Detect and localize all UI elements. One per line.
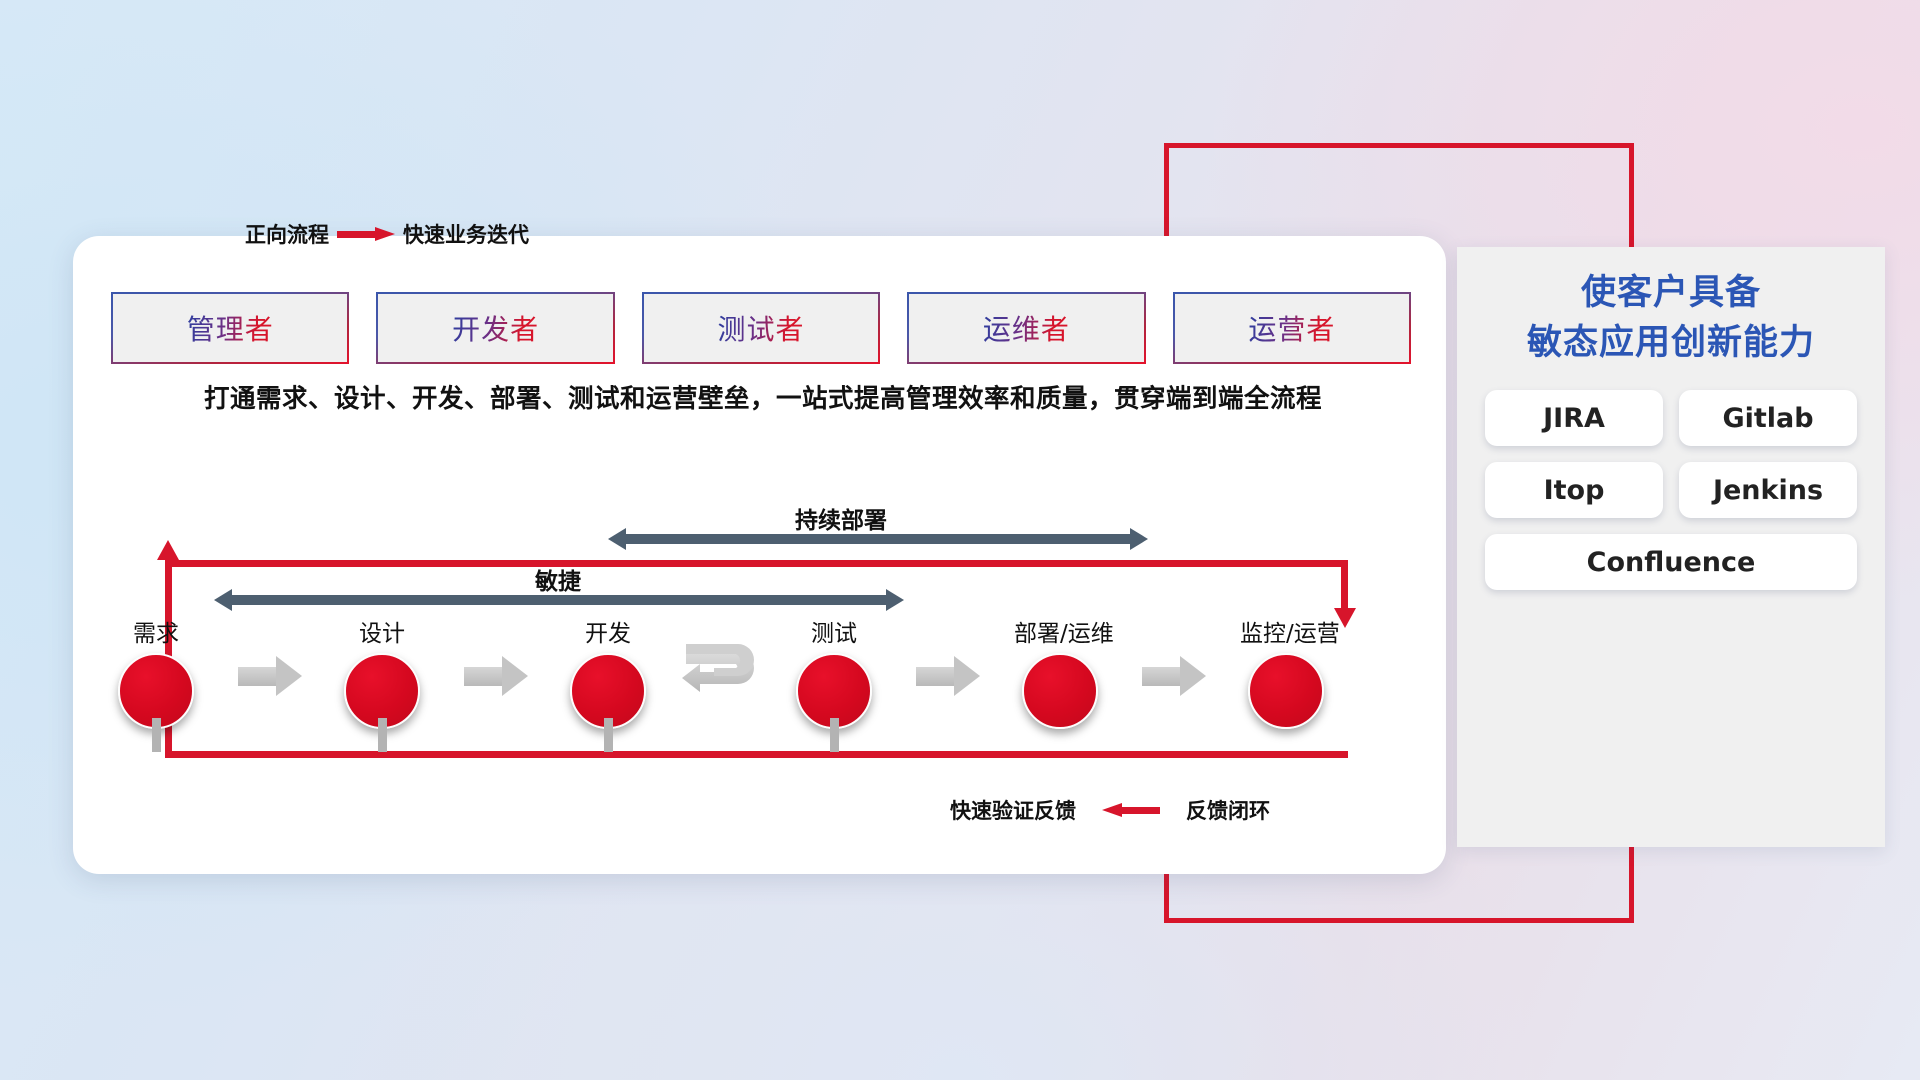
tool-item-jira[interactable]: JIRA — [1485, 390, 1663, 446]
pipeline-node-develop[interactable]: 开发 — [562, 614, 654, 729]
node-stem — [378, 718, 387, 752]
role-label: 管理者 — [187, 308, 274, 348]
devops-pipeline: 需求 设计 开发 — [110, 614, 1420, 734]
role-label: 运营者 — [1248, 308, 1335, 348]
pipeline-node-dot — [1022, 653, 1098, 729]
pipeline-node-label: 开发 — [562, 614, 654, 648]
fast-validation-label: 快速验证反馈 — [950, 795, 1076, 825]
node-stem — [830, 718, 839, 752]
tool-item-confluence[interactable]: Confluence — [1485, 534, 1857, 590]
tool-item-itop[interactable]: Itop — [1485, 462, 1663, 518]
arrow-left-red-icon — [1102, 803, 1160, 817]
tools-panel: 使客户具备 敏态应用创新能力 JIRA Gitlab Itop Jenkins … — [1457, 247, 1885, 847]
node-stem — [604, 718, 613, 752]
role-label: 测试者 — [718, 308, 805, 348]
pipeline-node-label: 设计 — [336, 614, 428, 648]
role-box-developer[interactable]: 开发者 — [376, 292, 614, 364]
slide-canvas: 管理者 开发者 测试者 运维者 运营者 打通需求、设计、开发、部署、测试和运营壁… — [0, 0, 1920, 1080]
tool-item-jenkins[interactable]: Jenkins — [1679, 462, 1857, 518]
main-card: 管理者 开发者 测试者 运维者 运营者 打通需求、设计、开发、部署、测试和运营壁… — [73, 236, 1446, 874]
pipeline-node-requirement[interactable]: 需求 — [110, 614, 202, 729]
connector-arrow-icon — [1142, 656, 1206, 696]
forward-flow-legend: 正向流程 快速业务迭代 — [245, 219, 529, 249]
tool-item-gitlab[interactable]: Gitlab — [1679, 390, 1857, 446]
connector-arrow-icon — [916, 656, 980, 696]
connector-arrow-icon — [238, 656, 302, 696]
pipeline-node-label: 部署/运维 — [1014, 614, 1106, 648]
role-box-tester[interactable]: 测试者 — [642, 292, 880, 364]
panel-title: 使客户具备 敏态应用创新能力 — [1457, 247, 1885, 368]
role-label: 运维者 — [983, 308, 1070, 348]
role-label: 开发者 — [452, 308, 539, 348]
pipeline-node-label: 监控/运营 — [1240, 614, 1332, 648]
double-arrow-continuous-deployment-icon — [608, 528, 1148, 550]
feedback-legend: 快速验证反馈 反馈闭环 — [950, 795, 1270, 825]
pipeline-node-test[interactable]: 测试 — [788, 614, 880, 729]
panel-title-line-1: 使客户具备 — [1465, 269, 1877, 319]
connector-arrow-icon — [464, 656, 528, 696]
role-boxes-row: 管理者 开发者 测试者 运维者 运营者 — [111, 292, 1411, 364]
pipeline-node-deploy-ops[interactable]: 部署/运维 — [1014, 614, 1106, 729]
tools-list: JIRA Gitlab Itop Jenkins Confluence — [1457, 368, 1885, 590]
feedback-loop-label: 反馈闭环 — [1186, 795, 1270, 825]
pipeline-node-monitor-operate[interactable]: 监控/运营 — [1240, 614, 1332, 729]
pipeline-node-design[interactable]: 设计 — [336, 614, 428, 729]
arrow-right-red-icon — [337, 227, 395, 241]
loop-arrowhead-up-icon — [157, 540, 179, 560]
description-text: 打通需求、设计、开发、部署、测试和运营壁垒，一站式提高管理效率和质量，贯穿端到端… — [113, 378, 1413, 415]
node-stem — [152, 718, 161, 752]
pipeline-node-dot — [1248, 653, 1324, 729]
panel-title-line-2: 敏态应用创新能力 — [1465, 319, 1877, 369]
forward-flow-label: 正向流程 — [245, 219, 329, 249]
role-box-operations[interactable]: 运营者 — [1173, 292, 1411, 364]
role-box-ops[interactable]: 运维者 — [907, 292, 1145, 364]
pipeline-node-label: 测试 — [788, 614, 880, 648]
fast-iteration-label: 快速业务迭代 — [403, 219, 529, 249]
role-box-manager[interactable]: 管理者 — [111, 292, 349, 364]
continuous-integration-loop-icon — [680, 642, 772, 704]
pipeline-node-label: 需求 — [110, 614, 202, 648]
